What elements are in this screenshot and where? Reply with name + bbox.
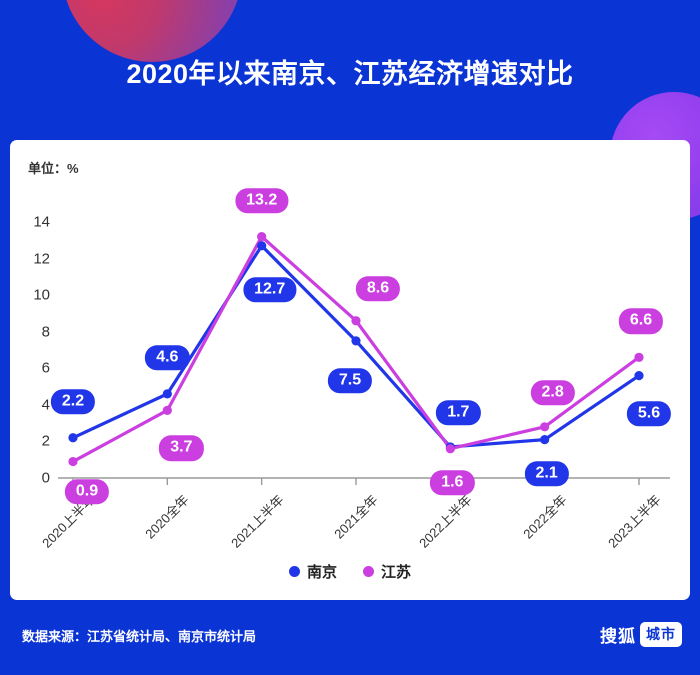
data-point-label: 1.7	[436, 400, 480, 425]
chart-legend: 南京 江苏	[10, 561, 690, 582]
y-axis-tick-label: 6	[16, 360, 50, 377]
data-point-label: 2.2	[51, 389, 95, 414]
y-axis-tick-label: 2	[16, 433, 50, 450]
logo-sohu-text: 搜狐	[600, 622, 636, 647]
chart-card: 单位：% 024681012142020上半年2020全年2021上半年2021…	[10, 140, 690, 600]
data-point-label: 8.6	[356, 276, 400, 301]
header: 2020年以来南京、江苏经济增速对比	[0, 0, 700, 128]
data-point-label: 2.8	[531, 380, 575, 405]
data-point-label: 0.9	[65, 479, 109, 504]
y-axis-tick-label: 8	[16, 323, 50, 340]
data-point-label: 2.1	[525, 461, 569, 486]
y-axis-tick-label: 10	[16, 287, 50, 304]
infographic-root: 2020年以来南京、江苏经济增速对比 单位：% 024681012142020上…	[0, 0, 700, 675]
data-source-text: 数据来源：江苏省统计局、南京市统计局	[22, 626, 256, 645]
y-axis-tick-label: 12	[16, 250, 50, 267]
data-point-label: 3.7	[159, 436, 203, 461]
logo-city-badge: 城市	[640, 622, 682, 647]
data-point-label: 5.6	[627, 401, 671, 426]
legend-label-nanjing: 南京	[307, 561, 337, 582]
sohu-city-logo: 搜狐 城市	[600, 622, 682, 647]
data-point-label: 13.2	[235, 188, 288, 213]
y-axis-tick-label: 4	[16, 396, 50, 413]
y-axis-tick-label: 14	[16, 214, 50, 231]
data-point-label: 4.6	[145, 345, 189, 370]
data-point-label: 7.5	[328, 368, 372, 393]
data-point-label: 1.6	[430, 470, 474, 495]
legend-item-jiangsu[interactable]: 江苏	[363, 561, 411, 582]
data-point-label: 6.6	[619, 309, 663, 334]
legend-item-nanjing[interactable]: 南京	[289, 561, 337, 582]
y-axis-tick-label: 0	[16, 470, 50, 487]
page-title: 2020年以来南京、江苏经济增速对比	[0, 52, 700, 91]
legend-dot-icon-nanjing	[289, 566, 300, 577]
legend-dot-icon-jiangsu	[363, 566, 374, 577]
legend-label-jiangsu: 江苏	[381, 561, 411, 582]
data-point-label: 12.7	[243, 277, 296, 302]
line-chart: 024681012142020上半年2020全年2021上半年2021全年202…	[10, 140, 690, 600]
footer: 数据来源：江苏省统计局、南京市统计局 搜狐 城市	[0, 600, 700, 675]
